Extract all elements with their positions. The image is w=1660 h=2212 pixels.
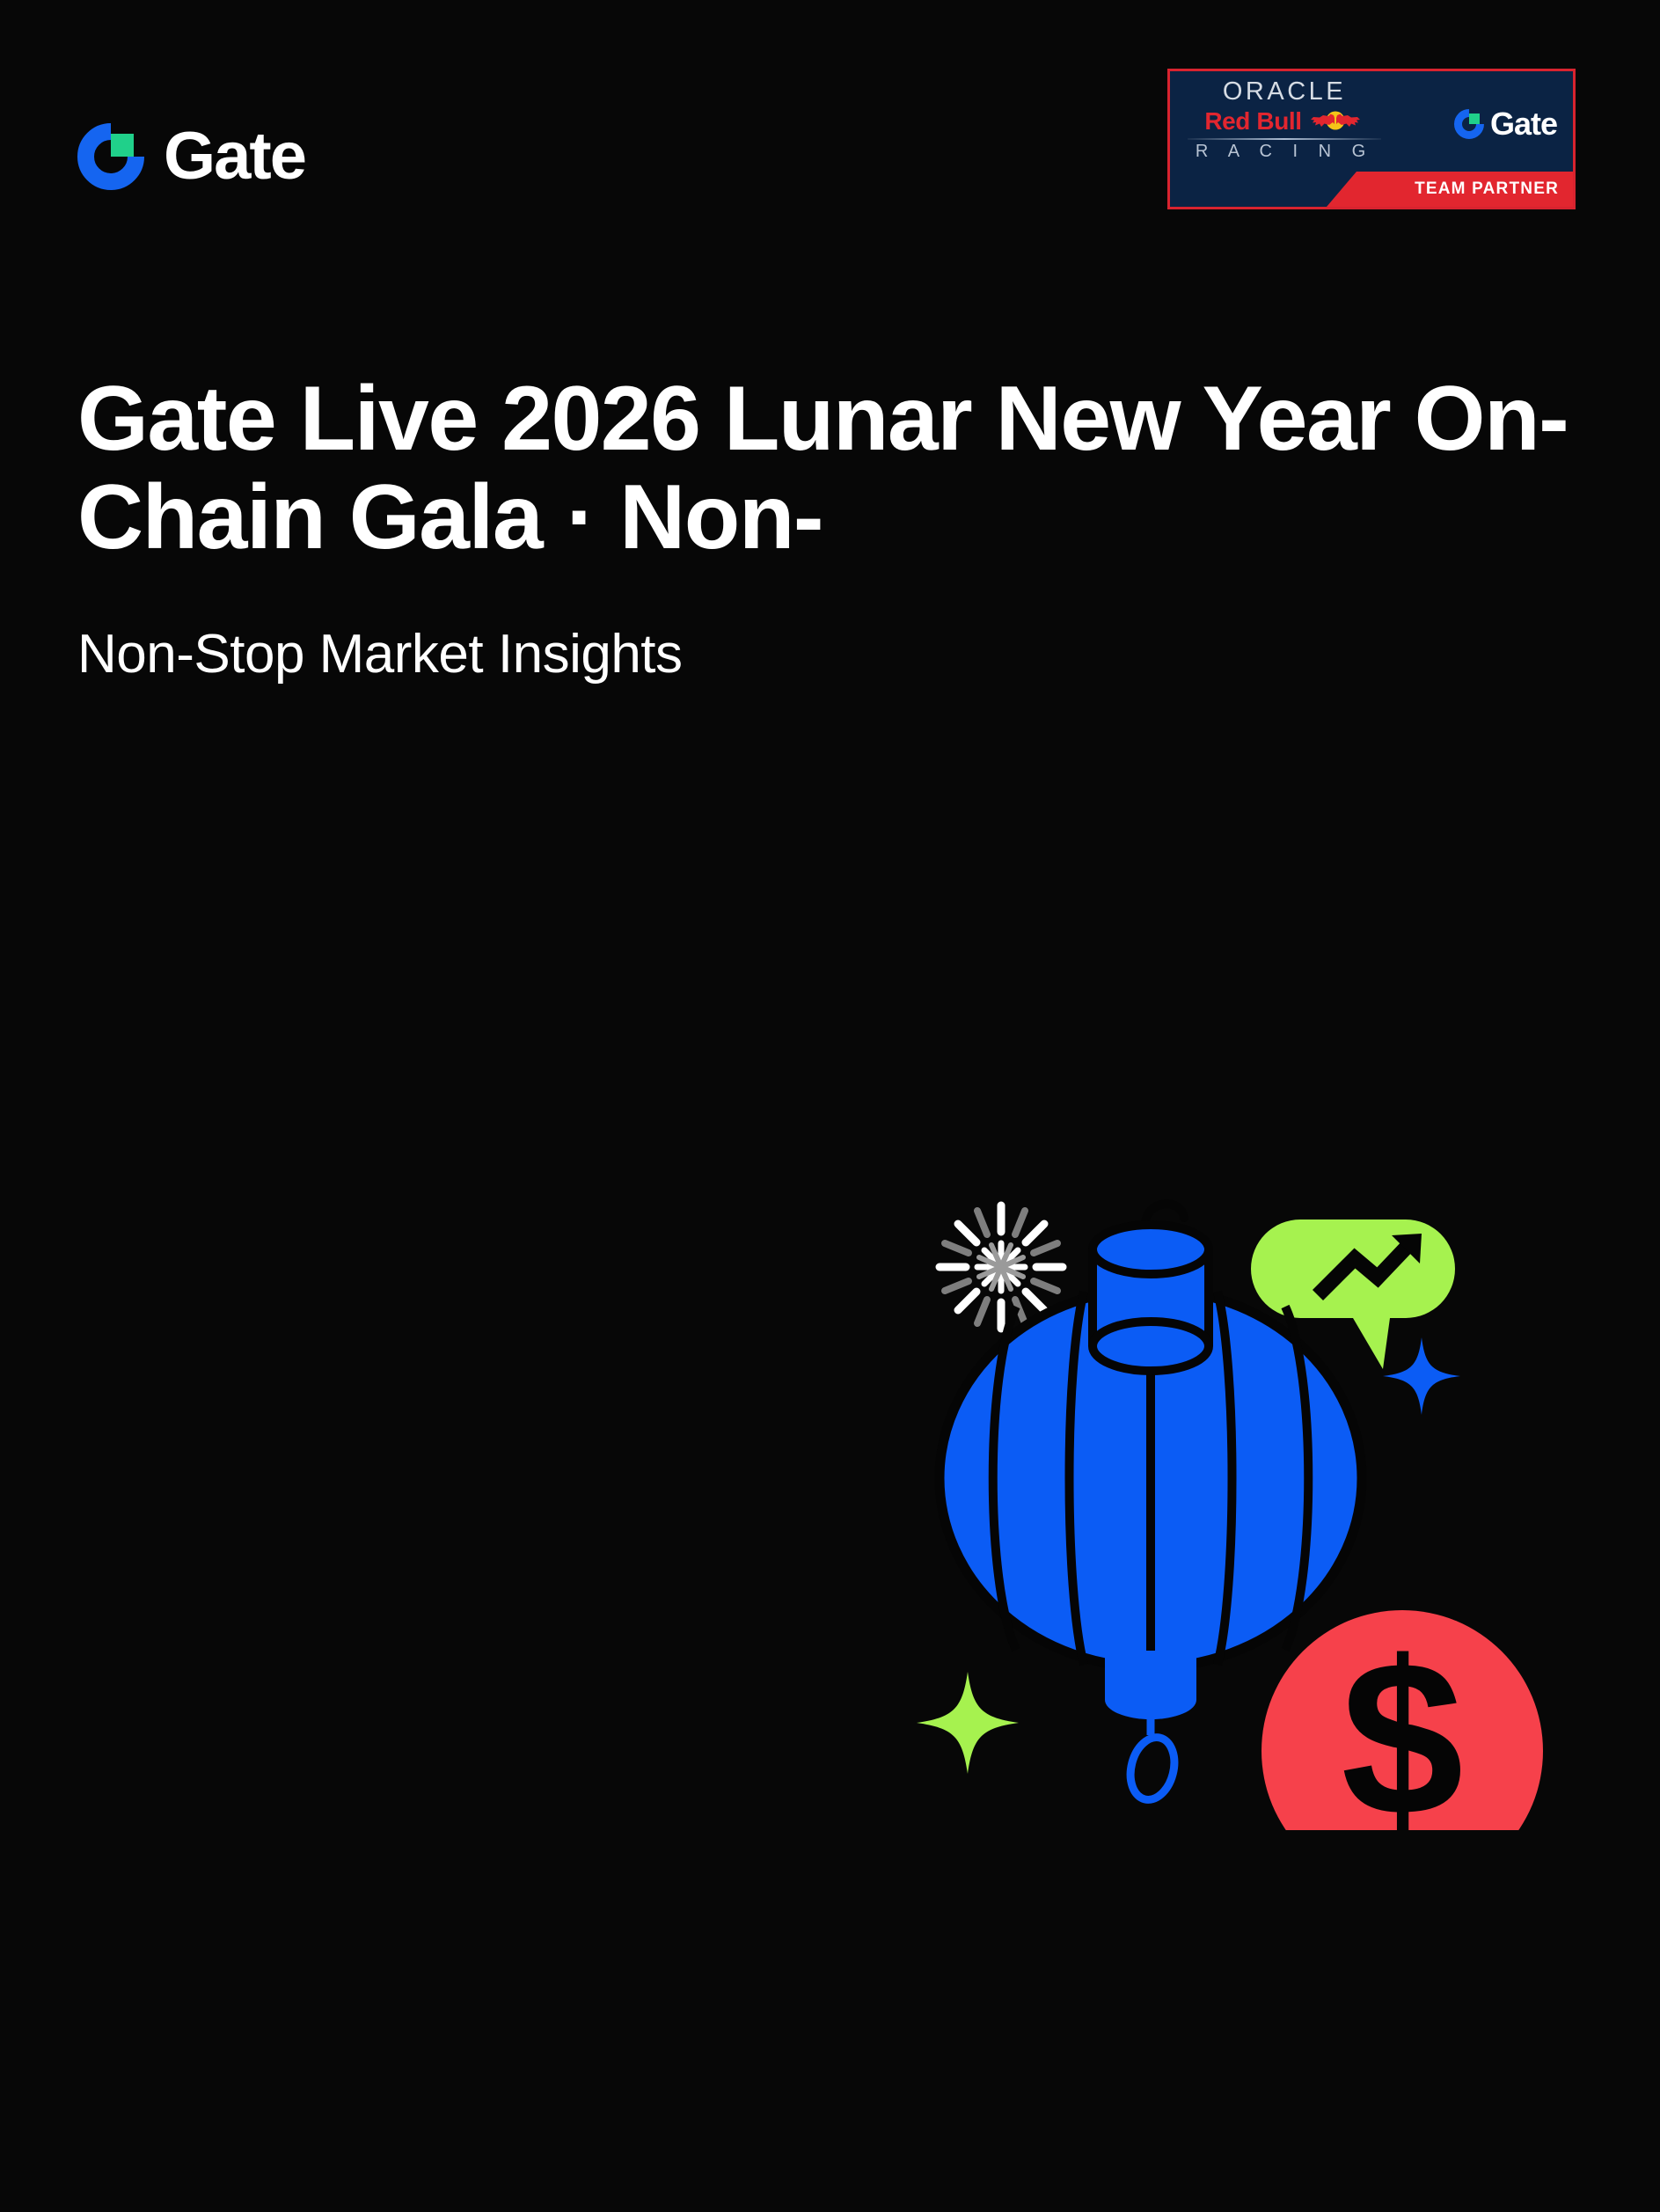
gate-brand-logo[interactable]: Gate [77,123,305,190]
red-bull-row: Red Bull [1182,107,1386,136]
lunar-new-year-lantern-illustration: $ [897,1161,1566,1830]
title-block: Gate Live 2026 Lunar New Year On-Chain G… [77,370,1660,687]
red-bull-bulls-icon [1306,108,1364,135]
page-header: Gate ORACLE Red Bull R A C I N G Gate [0,0,1660,246]
svg-text:$: $ [1341,1615,1463,1830]
team-partner-label: TEAM PARTNER [1415,179,1559,199]
racing-wordmark: R A C I N G [1182,142,1386,162]
team-partner-banner: TEAM PARTNER [1327,172,1573,207]
badge-gate-square-shape [1469,114,1480,124]
dollar-sign-icon: $ [1341,1615,1463,1830]
red-bull-racing-lockup: ORACLE Red Bull R A C I N G [1182,78,1386,162]
badge-divider [1188,138,1381,140]
blue-sparkle-icon [1383,1337,1460,1415]
page-subtitle: Non-Stop Market Insights [77,622,1660,687]
gate-square-shape [111,134,134,157]
page-title: Gate Live 2026 Lunar New Year On-Chain G… [77,370,1573,568]
oracle-wordmark: ORACLE [1182,78,1386,106]
badge-gate-logo: Gate [1454,108,1557,140]
gate-logo-mark-icon [77,123,144,190]
badge-gate-wordmark: Gate [1490,108,1557,140]
gate-wordmark: Gate [164,123,305,190]
oracle-red-bull-racing-partner-badge: ORACLE Red Bull R A C I N G Gate TEAM PA… [1167,69,1576,209]
red-bull-wordmark: Red Bull [1204,107,1301,136]
badge-gate-logo-mark-icon [1454,109,1484,139]
green-sparkle-icon [917,1672,1019,1774]
